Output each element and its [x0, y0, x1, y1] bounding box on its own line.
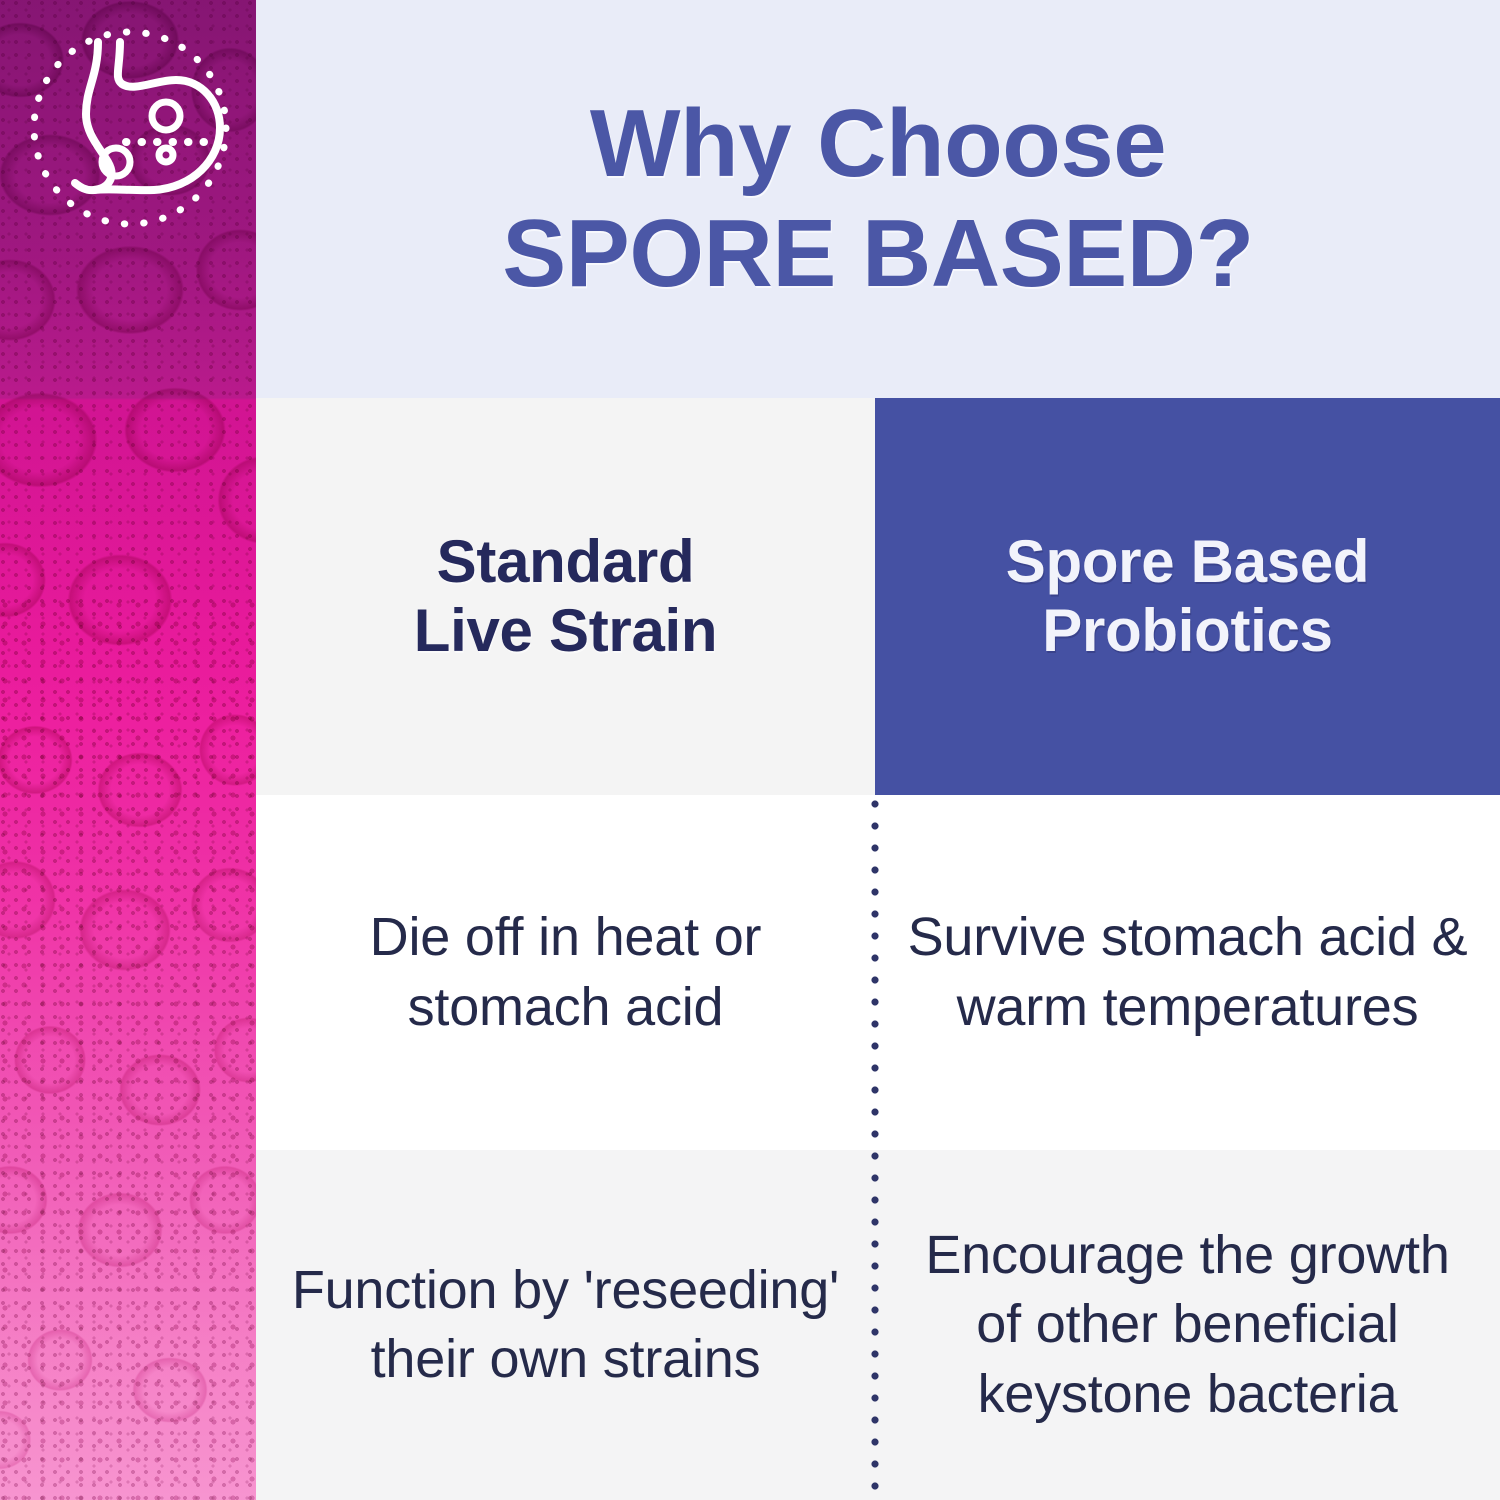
column-header-spore-line-1: Spore Based [1006, 528, 1370, 595]
comparison-cell-text: Function by 'reseeding' their own strain… [282, 1256, 849, 1394]
comparison-cell-text: Encourage the growth of other beneficial… [901, 1221, 1474, 1428]
comparison-cell-right: Survive stomach acid & warm temperatures [875, 795, 1500, 1150]
column-header-spore-label: Spore Based Probiotics [1006, 528, 1370, 665]
column-header-standard-label: Standard Live Strain [414, 528, 717, 665]
page-title-line-2: SPORE BASED? [502, 205, 1253, 303]
comparison-cell-left: Die off in heat or stomach acid [256, 795, 875, 1150]
stomach-icon [24, 22, 236, 234]
title-band: Why Choose SPORE BASED? [256, 0, 1500, 398]
comparison-cell-left: Function by 'reseeding' their own strain… [256, 1150, 875, 1500]
page-title-line-1: Why Choose [590, 95, 1166, 193]
column-header-spore-line-2: Probiotics [1042, 597, 1332, 664]
comparison-cell-right: Encourage the growth of other beneficial… [875, 1150, 1500, 1500]
column-header-standard-line-2: Live Strain [414, 597, 717, 664]
column-header-spore: Spore Based Probiotics [875, 398, 1500, 795]
column-header-standard-line-1: Standard [437, 528, 695, 595]
column-header-standard: Standard Live Strain [256, 398, 875, 795]
infographic-canvas: Why Choose SPORE BASED? Standard Live St… [0, 0, 1500, 1500]
dotted-column-divider [871, 800, 879, 1500]
comparison-cell-text: Die off in heat or stomach acid [282, 903, 849, 1041]
cell-speckle-layer-2 [0, 600, 256, 1500]
comparison-cell-text: Survive stomach acid & warm temperatures [901, 903, 1474, 1041]
